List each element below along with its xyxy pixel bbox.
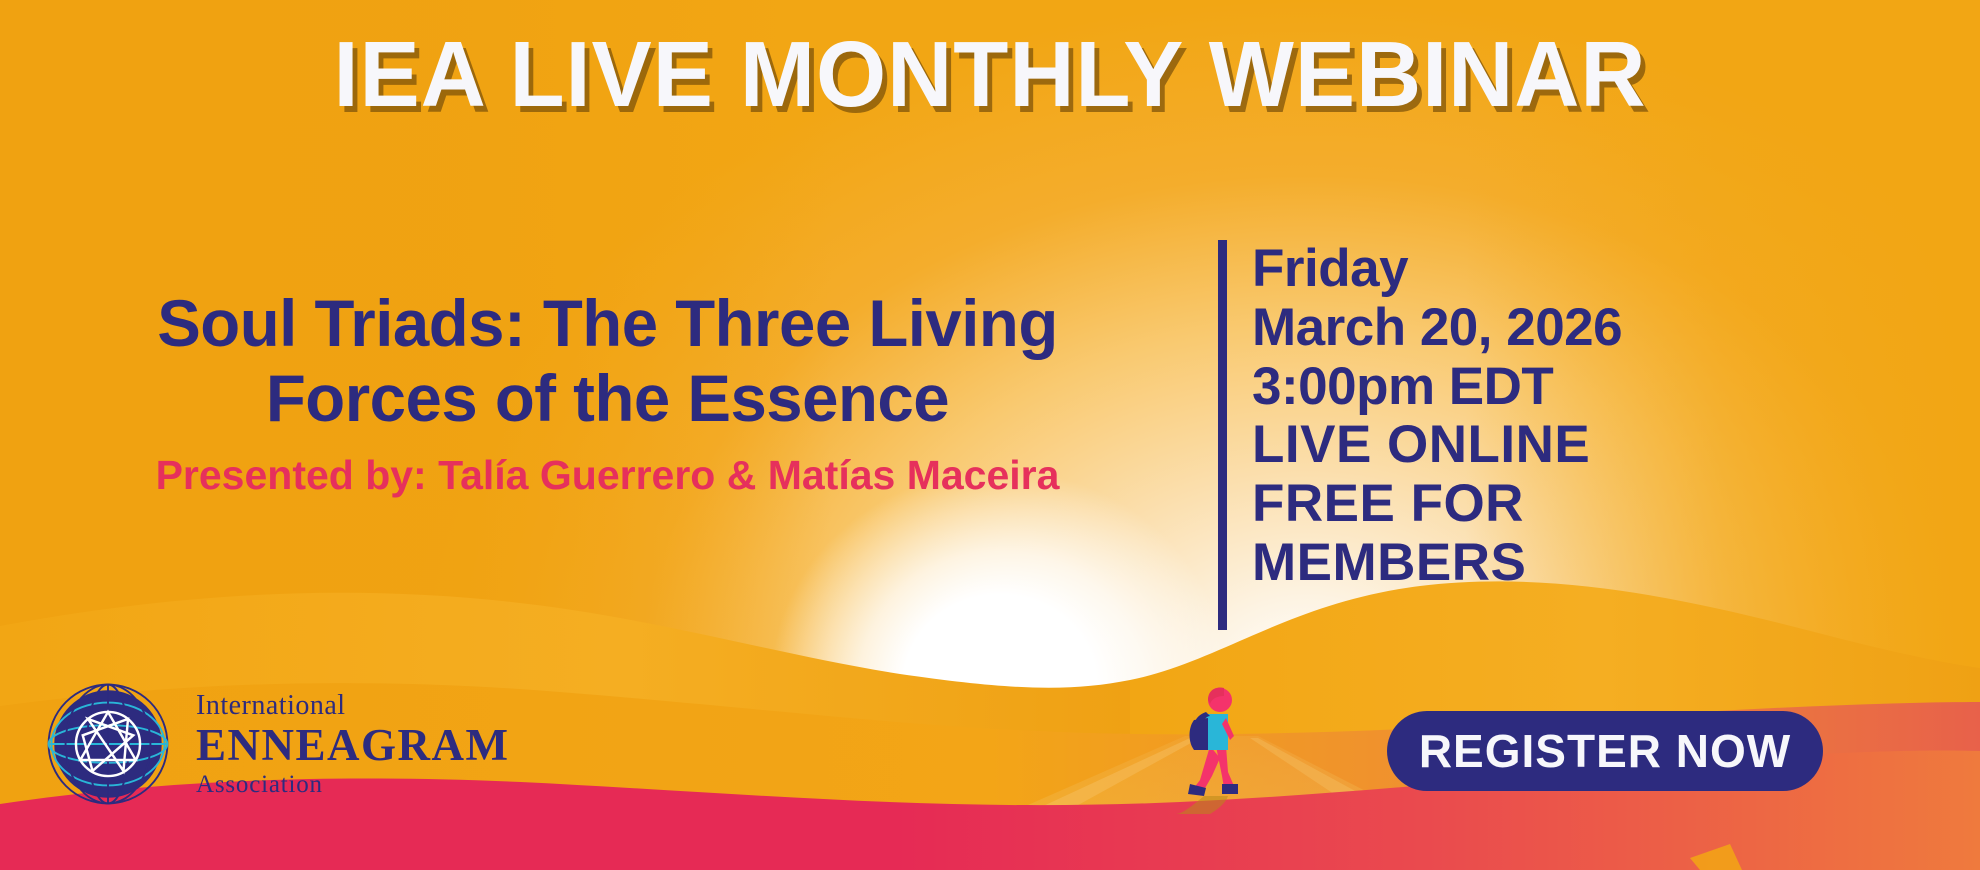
detail-price-line1: FREE FOR (1252, 475, 1812, 534)
detail-format: LIVE ONLINE (1252, 416, 1812, 475)
globe-enneagram-icon (42, 678, 174, 810)
webinar-promo-banner: IEA LIVE MONTHLY WEBINAR Soul Triads: Th… (0, 0, 1980, 870)
banner-header-title: IEA LIVE MONTHLY WEBINAR (30, 26, 1951, 124)
walking-hiker-icon (1176, 684, 1256, 814)
logo-line-international: International (196, 692, 510, 720)
vertical-divider (1218, 240, 1227, 630)
register-now-label: REGISTER NOW (1419, 724, 1791, 778)
webinar-info-block: Soul Triads: The Three Living Forces of … (10, 286, 1205, 499)
webinar-title-line2: Forces of the Essence (16, 361, 1199, 436)
event-details-block: Friday March 20, 2026 3:00pm EDT LIVE ON… (1252, 240, 1812, 593)
logo-wordmark: International ENNEAGRAM Association (196, 692, 510, 797)
iea-logo: International ENNEAGRAM Association (42, 678, 510, 810)
detail-date: March 20, 2026 (1252, 299, 1812, 358)
webinar-title-line1: Soul Triads: The Three Living (157, 286, 1058, 360)
detail-price-line2: MEMBERS (1252, 534, 1812, 593)
detail-day: Friday (1252, 240, 1812, 299)
detail-time: 3:00pm EDT (1252, 358, 1812, 417)
logo-line-enneagram: ENNEAGRAM (196, 723, 510, 768)
webinar-title: Soul Triads: The Three Living Forces of … (16, 286, 1199, 436)
logo-line-association: Association (196, 772, 510, 797)
register-now-button[interactable]: REGISTER NOW (1387, 711, 1823, 791)
presenters-line: Presented by: Talía Guerrero & Matías Ma… (10, 452, 1205, 499)
